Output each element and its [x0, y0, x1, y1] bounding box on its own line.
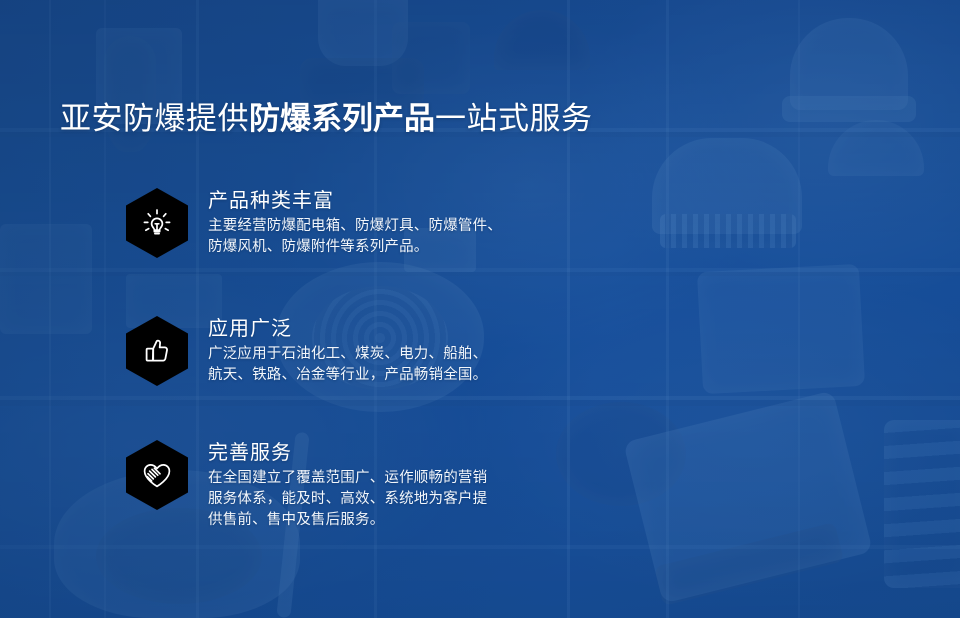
feature-item-product-variety: 产品种类丰富 主要经营防爆配电箱、防爆灯具、防爆管件、 防爆风机、防爆附件等系列… — [126, 186, 502, 258]
feature-description-line: 供售前、售中及售后服务。 — [208, 510, 487, 531]
feature-list: 产品种类丰富 主要经营防爆配电箱、防爆灯具、防爆管件、 防爆风机、防爆附件等系列… — [126, 186, 502, 531]
feature-text: 完善服务 在全国建立了覆盖范围广、运作顺畅的营销 服务体系，能及时、高效、系统地… — [208, 438, 487, 531]
feature-title: 应用广泛 — [208, 315, 487, 341]
feature-description-line: 服务体系，能及时、高效、系统地为客户提 — [208, 489, 487, 510]
feature-description-line: 广泛应用于石油化工、煤炭、电力、船舶、 — [208, 344, 487, 365]
feature-description: 在全国建立了覆盖范围广、运作顺畅的营销 服务体系，能及时、高效、系统地为客户提 … — [208, 468, 487, 531]
promo-banner: 亚安防爆提供防爆系列产品一站式服务 — [0, 0, 960, 618]
lightbulb-icon — [140, 206, 174, 240]
thumbs-up-icon — [141, 335, 173, 367]
feature-description-line: 航天、铁路、冶金等行业，产品畅销全国。 — [208, 365, 487, 386]
thumbs-up-icon-badge — [126, 316, 188, 386]
heart-handshake-icon — [140, 459, 174, 491]
headline-emphasis: 防爆系列产品 — [249, 101, 435, 137]
page-title: 亚安防爆提供防爆系列产品一站式服务 — [60, 99, 593, 139]
feature-title: 产品种类丰富 — [208, 187, 502, 213]
heart-handshake-icon-badge — [126, 440, 188, 510]
feature-text: 产品种类丰富 主要经营防爆配电箱、防爆灯具、防爆管件、 防爆风机、防爆附件等系列… — [208, 186, 502, 258]
feature-item-complete-service: 完善服务 在全国建立了覆盖范围广、运作顺畅的营销 服务体系，能及时、高效、系统地… — [126, 438, 502, 531]
feature-description-line: 主要经营防爆配电箱、防爆灯具、防爆管件、 — [208, 216, 502, 237]
headline-tail: 一站式服务 — [435, 101, 593, 137]
lightbulb-icon-badge — [126, 188, 188, 258]
feature-item-wide-application: 应用广泛 广泛应用于石油化工、煤炭、电力、船舶、 航天、铁路、冶金等行业，产品畅… — [126, 314, 502, 386]
feature-title: 完善服务 — [208, 439, 487, 465]
feature-description-line: 在全国建立了覆盖范围广、运作顺畅的营销 — [208, 468, 487, 489]
feature-description-line: 防爆风机、防爆附件等系列产品。 — [208, 237, 502, 258]
headline-lead: 亚安防爆提供 — [60, 101, 249, 137]
feature-text: 应用广泛 广泛应用于石油化工、煤炭、电力、船舶、 航天、铁路、冶金等行业，产品畅… — [208, 314, 487, 386]
feature-description: 广泛应用于石油化工、煤炭、电力、船舶、 航天、铁路、冶金等行业，产品畅销全国。 — [208, 344, 487, 386]
feature-description: 主要经营防爆配电箱、防爆灯具、防爆管件、 防爆风机、防爆附件等系列产品。 — [208, 216, 502, 258]
